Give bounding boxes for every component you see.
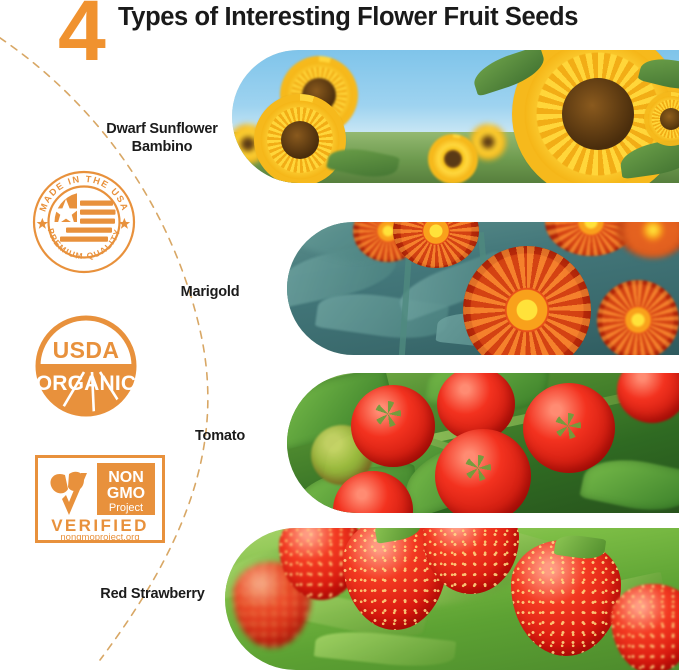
product-photo-red-strawberry [225,528,679,670]
page-title: Types of Interesting Flower Fruit Seeds [118,2,678,32]
infographic-root: 4 Types of Interesting Flower Fruit Seed… [0,0,679,670]
made-in-usa-seal-icon: MADE IN THE USA PREMIUM QUALITY [30,168,138,276]
product-label-marigold: Marigold [130,283,290,301]
usda-organic-seal-icon: USDA ORGANIC [32,312,140,420]
nongmo-line2: GMO [107,485,145,502]
usda-seal-line2: ORGANIC [36,372,137,395]
header: 4 Types of Interesting Flower Fruit Seed… [0,0,679,52]
nongmo-line1: NON [108,469,144,486]
product-photo-tomato [287,373,679,513]
product-count-number: 4 [58,0,104,74]
usda-seal-line1: USDA [53,337,120,363]
product-photo-marigold [287,222,679,355]
product-photo-dwarf-sunflower [232,50,679,183]
product-label-tomato: Tomato [140,427,300,445]
nongmo-url: nongmoproject.org [60,532,139,543]
non-gmo-project-verified-seal-icon: NON GMO Project VERIFIED nongmoproject.o… [35,455,165,543]
nongmo-line3: Project [109,502,143,514]
